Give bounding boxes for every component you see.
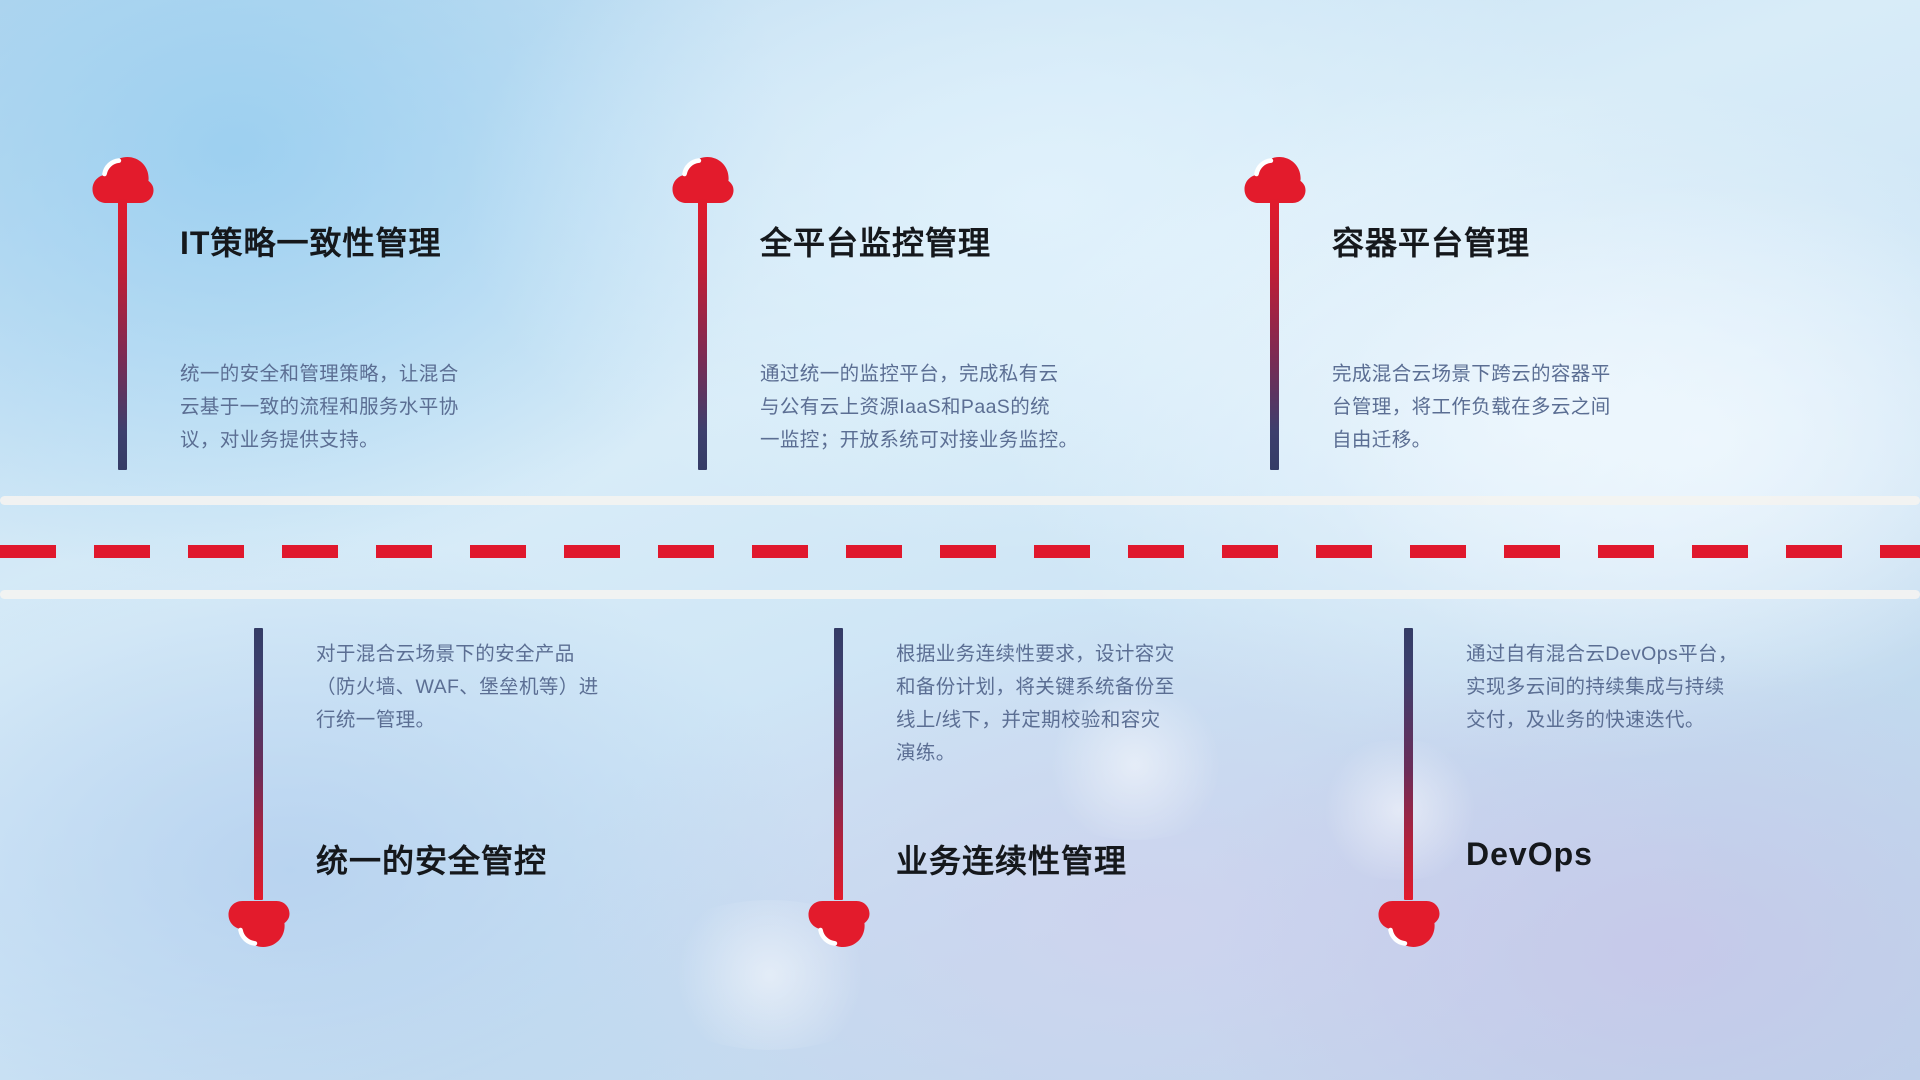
connector-line <box>1270 198 1279 470</box>
infographic-canvas: IT策略一致性管理 统一的安全和管理策略，让混合 云基于一致的流程和服务水平协 … <box>0 0 1920 1080</box>
paragraph-line: 线上/线下，并定期校验和容灾 <box>896 704 1175 737</box>
paragraph-line: 通过自有混合云DevOps平台， <box>1466 638 1738 671</box>
paragraph-line: 行统一管理。 <box>316 704 599 737</box>
top-paragraph-3: 完成混合云场景下跨云的容器平 台管理，将工作负载在多云之间 自由迁移。 <box>1332 358 1611 457</box>
cloud-icon <box>228 900 290 948</box>
cloud-icon <box>92 156 154 204</box>
paragraph-line: 交付，及业务的快速迭代。 <box>1466 704 1738 737</box>
paragraph-line: 和备份计划，将关键系统备份至 <box>896 671 1175 704</box>
paragraph-line: 实现多云间的持续集成与持续 <box>1466 671 1738 704</box>
connector-line <box>1404 628 1413 900</box>
connector-line <box>254 628 263 900</box>
paragraph-line: 演练。 <box>896 737 1175 770</box>
bottom-heading-3: DevOps <box>1466 836 1593 873</box>
top-heading-3: 容器平台管理 <box>1332 218 1530 264</box>
top-paragraph-2: 通过统一的监控平台，完成私有云 与公有云上资源IaaS和PaaS的统 一监控；开… <box>760 358 1078 457</box>
paragraph-line: 议，对业务提供支持。 <box>180 424 459 457</box>
paragraph-line: 云基于一致的流程和服务水平协 <box>180 391 459 424</box>
connector-line <box>698 198 707 470</box>
cloud-icon <box>808 900 870 948</box>
bottom-heading-1: 统一的安全管控 <box>316 836 547 882</box>
paragraph-line: 统一的安全和管理策略，让混合 <box>180 358 459 391</box>
connector-line <box>118 198 127 470</box>
paragraph-line: 根据业务连续性要求，设计容灾 <box>896 638 1175 671</box>
cloud-icon <box>672 156 734 204</box>
bottom-paragraph-3: 通过自有混合云DevOps平台， 实现多云间的持续集成与持续 交付，及业务的快速… <box>1466 638 1738 737</box>
paragraph-line: 自由迁移。 <box>1332 424 1611 457</box>
divider-dashed-line <box>0 545 1920 558</box>
paragraph-line: （防火墙、WAF、堡垒机等）进 <box>316 671 599 704</box>
top-heading-1: IT策略一致性管理 <box>180 218 441 264</box>
cloud-icon <box>1244 156 1306 204</box>
paragraph-line: 完成混合云场景下跨云的容器平 <box>1332 358 1611 391</box>
paragraph-line: 对于混合云场景下的安全产品 <box>316 638 599 671</box>
bottom-paragraph-2: 根据业务连续性要求，设计容灾 和备份计划，将关键系统备份至 线上/线下，并定期校… <box>896 638 1175 770</box>
connector-line <box>834 628 843 900</box>
bottom-paragraph-1: 对于混合云场景下的安全产品 （防火墙、WAF、堡垒机等）进 行统一管理。 <box>316 638 599 737</box>
divider-line-top <box>0 496 1920 505</box>
bottom-heading-2: 业务连续性管理 <box>896 836 1127 882</box>
top-heading-2: 全平台监控管理 <box>760 218 991 264</box>
paragraph-line: 台管理，将工作负载在多云之间 <box>1332 391 1611 424</box>
paragraph-line: 通过统一的监控平台，完成私有云 <box>760 358 1078 391</box>
top-paragraph-1: 统一的安全和管理策略，让混合 云基于一致的流程和服务水平协 议，对业务提供支持。 <box>180 358 459 457</box>
divider-line-bottom <box>0 590 1920 599</box>
paragraph-line: 与公有云上资源IaaS和PaaS的统 <box>760 391 1078 424</box>
cloud-icon <box>1378 900 1440 948</box>
paragraph-line: 一监控；开放系统可对接业务监控。 <box>760 424 1078 457</box>
